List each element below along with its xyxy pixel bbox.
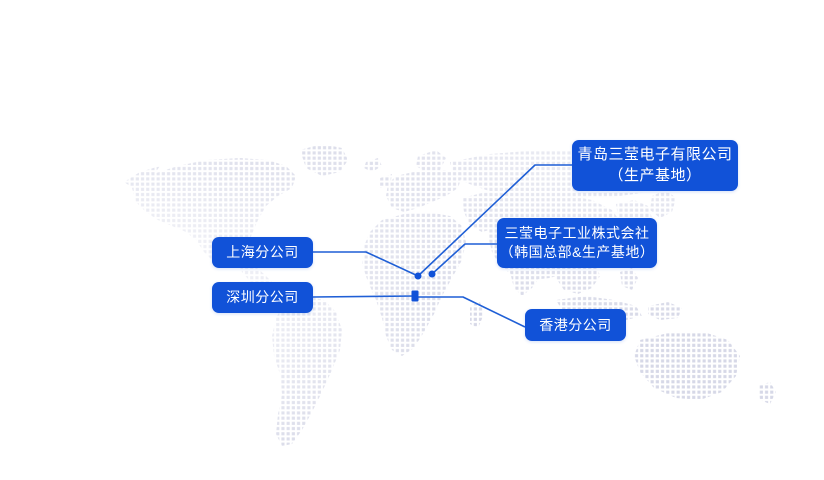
map-marker-shenzhen[interactable] [412,291,419,302]
label-hongkong-line1: 香港分公司 [539,316,612,335]
label-hongkong[interactable]: 香港分公司 [525,309,626,341]
label-qingdao-line2: （生产基地） [608,166,701,186]
label-shanghai-line1: 上海分公司 [226,243,299,262]
label-korea-line1: 三莹电子工业株式会社 [505,224,650,243]
label-korea-line2: （韩国总部&生产基地） [500,243,655,262]
label-shenzhen[interactable]: 深圳分公司 [212,282,313,313]
label-korea[interactable]: 三莹电子工业株式会社 （韩国总部&生产基地） [497,218,657,268]
label-qingdao-line1: 青岛三莹电子有限公司 [577,145,732,165]
map-marker-shanghai[interactable] [415,273,422,280]
world-map-canvas [0,0,824,480]
label-shanghai[interactable]: 上海分公司 [212,237,313,268]
world-map-infographic: 青岛三莹电子有限公司 （生产基地） 三莹电子工业株式会社 （韩国总部&生产基地）… [0,0,824,480]
map-marker-korea[interactable] [429,271,436,278]
label-qingdao[interactable]: 青岛三莹电子有限公司 （生产基地） [572,140,738,191]
label-shenzhen-line1: 深圳分公司 [226,288,299,307]
